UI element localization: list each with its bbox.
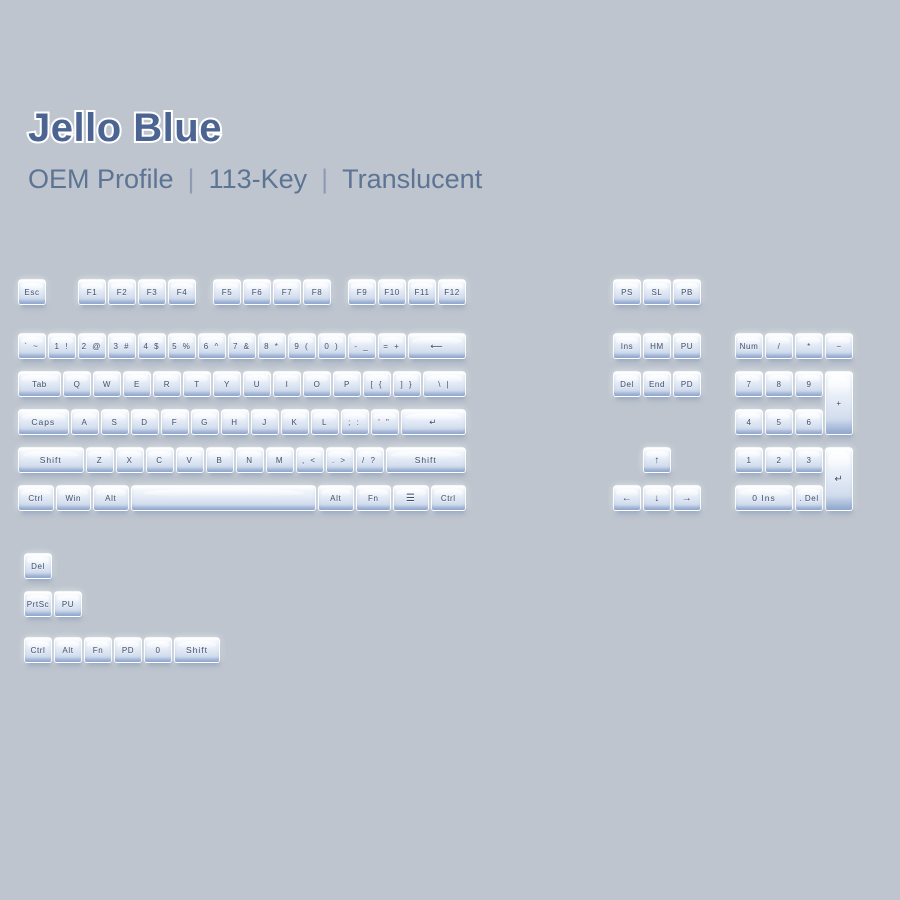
keycap-legend: = + (383, 342, 401, 351)
keycap-legend: A (82, 418, 88, 427)
keycap-legend: PrtSc (27, 600, 50, 609)
keycap-legend: Y (224, 380, 230, 389)
key-period[interactable]: . > (326, 447, 354, 473)
keycap-legend: Fn (93, 646, 104, 655)
keycap-legend: C (156, 456, 162, 465)
key-o[interactable]: O (303, 371, 331, 397)
key-f[interactable]: F (161, 409, 189, 435)
key-numpad-multiply[interactable]: * (795, 333, 823, 359)
keycap-legend: Ctrl (441, 494, 456, 503)
keycap-legend: Shift (415, 455, 437, 465)
keycap-legend: J (262, 418, 267, 427)
keycap-legend: F10 (384, 288, 400, 297)
key-t[interactable]: T (183, 371, 211, 397)
key-numpad-enter[interactable]: ↵ (825, 447, 853, 511)
keycap-legend: PU (681, 342, 693, 351)
keycap-legend: Alt (330, 494, 341, 503)
key-6[interactable]: 6 ^ (198, 333, 226, 359)
key-slash[interactable]: / ? (356, 447, 384, 473)
keycap-legend: Fn (368, 494, 379, 503)
key-extra-0[interactable]: 0 (144, 637, 172, 663)
key-l[interactable]: L (311, 409, 339, 435)
key-h[interactable]: H (221, 409, 249, 435)
keycap-legend: Alt (62, 646, 73, 655)
keycap-set-layout: EscF1F2F3F4F5F6F7F8F9F10F11F12` ~1 !2 @3… (0, 0, 900, 900)
keycap-legend: ↵ (835, 474, 844, 485)
key-extra-shift[interactable]: Shift (174, 637, 220, 663)
key-fn[interactable]: Fn (356, 485, 392, 511)
key-w[interactable]: W (93, 371, 121, 397)
keycap-legend: Ctrl (28, 494, 43, 503)
keycap-legend: HM (650, 342, 664, 351)
key-shift-right[interactable]: Shift (386, 447, 467, 473)
key-x[interactable]: X (116, 447, 144, 473)
keycap-legend: 4 $ (143, 342, 160, 351)
key-f3[interactable]: F3 (138, 279, 166, 305)
key-numpad-3[interactable]: 3 (795, 447, 823, 473)
key-s[interactable]: S (101, 409, 129, 435)
keycap-legend: ☰ (406, 493, 416, 504)
keycap-legend: PU (62, 600, 74, 609)
key-numpad-5[interactable]: 5 (765, 409, 793, 435)
key-insert[interactable]: Ins (613, 333, 641, 359)
key-c[interactable]: C (146, 447, 174, 473)
keycap-legend: 0 Ins (752, 493, 775, 503)
keycap-legend: Ins (621, 342, 633, 351)
key-backslash[interactable]: \ | (423, 371, 466, 397)
key-i[interactable]: I (273, 371, 301, 397)
key-e[interactable]: E (123, 371, 151, 397)
keycap-legend: ` ~ (24, 342, 40, 351)
keycap-legend: . > (332, 456, 347, 465)
key-grave[interactable]: ` ~ (18, 333, 46, 359)
key-equal[interactable]: = + (378, 333, 406, 359)
key-esc[interactable]: Esc (18, 279, 46, 305)
key-f6[interactable]: F6 (243, 279, 271, 305)
key-ctrl-right[interactable]: Ctrl (431, 485, 467, 511)
key-ctrl-left[interactable]: Ctrl (18, 485, 54, 511)
keycap-legend: 5 (776, 418, 781, 427)
keycap-legend: S (112, 418, 118, 427)
key-numpad-4[interactable]: 4 (735, 409, 763, 435)
key-extra-del[interactable]: Del (24, 553, 52, 579)
keycap-legend: 2 @ (82, 342, 103, 351)
keycap-legend: , < (302, 456, 317, 465)
key-arrow-down[interactable]: ↓ (643, 485, 671, 511)
key-extra-pd[interactable]: PD (114, 637, 142, 663)
keycap-legend: PD (681, 380, 693, 389)
keycap-legend: F1 (87, 288, 98, 297)
keycap-legend: SL (652, 288, 663, 297)
keycap-legend: F11 (415, 288, 430, 297)
keycap-legend: Z (97, 456, 103, 465)
keycap-legend: PS (621, 288, 633, 297)
keycap-legend: F2 (117, 288, 128, 297)
key-backspace[interactable]: ⟵ (408, 333, 466, 359)
key-m[interactable]: M (266, 447, 294, 473)
key-r[interactable]: R (153, 371, 181, 397)
keycap-legend: 2 (776, 456, 781, 465)
keycap-legend: P (344, 380, 350, 389)
key-numpad-8[interactable]: 8 (765, 371, 793, 397)
key-k[interactable]: K (281, 409, 309, 435)
key-arrow-up[interactable]: ↑ (643, 447, 671, 473)
key-arrow-left[interactable]: ← (613, 485, 641, 511)
keycap-legend: G (201, 418, 208, 427)
key-arrow-right[interactable]: → (673, 485, 701, 511)
key-3[interactable]: 3 # (108, 333, 136, 359)
keycap-legend: 9 (806, 380, 811, 389)
keycap-legend: PD (122, 646, 134, 655)
keycap-legend: 8 * (264, 342, 280, 351)
key-pause-break[interactable]: PB (673, 279, 701, 305)
key-end[interactable]: End (643, 371, 671, 397)
keycap-legend: End (649, 380, 665, 389)
key-win[interactable]: Win (56, 485, 92, 511)
keycap-legend: 0 (155, 646, 160, 655)
key-numpad-6[interactable]: 6 (795, 409, 823, 435)
keycap-legend: M (276, 456, 283, 465)
key-space[interactable] (131, 485, 317, 511)
keycap-legend: ↑ (654, 455, 660, 466)
key-2[interactable]: 2 @ (78, 333, 106, 359)
keycap-legend: Q (74, 380, 81, 389)
keycap-legend: 5 % (172, 342, 192, 351)
key-1[interactable]: 1 ! (48, 333, 76, 359)
key-z[interactable]: Z (86, 447, 114, 473)
key-extra-prtsc[interactable]: PrtSc (24, 591, 52, 617)
keycap-legend: Ctrl (31, 646, 46, 655)
key-b[interactable]: B (206, 447, 234, 473)
keycap-legend: ↓ (654, 493, 660, 504)
keycap-legend: ← (622, 493, 633, 504)
key-semicolon[interactable]: ; : (341, 409, 369, 435)
keycap-legend: - _ (354, 342, 369, 351)
keycap-legend: 8 (776, 380, 781, 389)
keycap-legend: 6 ^ (204, 342, 220, 351)
key-numpad-1[interactable]: 1 (735, 447, 763, 473)
key-numpad-divide[interactable]: / (765, 333, 793, 359)
keycap-legend: F12 (444, 288, 460, 297)
keycap-legend: 0 ) (324, 342, 339, 351)
key-0[interactable]: 0 ) (318, 333, 346, 359)
keycap-legend: F3 (147, 288, 158, 297)
keycap-legend: I (286, 380, 289, 389)
key-7[interactable]: 7 & (228, 333, 256, 359)
key-numpad-9[interactable]: 9 (795, 371, 823, 397)
keycap-legend: Shift (186, 645, 208, 655)
key-alt-right[interactable]: Alt (318, 485, 354, 511)
key-extra-ctrl[interactable]: Ctrl (24, 637, 52, 663)
key-p[interactable]: P (333, 371, 361, 397)
keycap-legend: F6 (252, 288, 263, 297)
keycap-legend: / ? (362, 456, 377, 465)
key-numpad-decimal[interactable]: . Del (795, 485, 823, 511)
key-page-up[interactable]: PU (673, 333, 701, 359)
keycap-legend: 9 ( (294, 342, 309, 351)
keycap-legend: Num (740, 342, 759, 351)
keycap-legend: F (172, 418, 178, 427)
keycap-legend: 1 (746, 456, 751, 465)
key-delete[interactable]: Del (613, 371, 641, 397)
keycap-legend: N (246, 456, 252, 465)
keycap-legend: X (127, 456, 133, 465)
keycap-legend: 7 (746, 380, 751, 389)
key-minus[interactable]: - _ (348, 333, 376, 359)
key-f1[interactable]: F1 (78, 279, 106, 305)
keycap-legend: Caps (31, 417, 55, 427)
keycap-legend: O (314, 380, 321, 389)
key-quote[interactable]: ' " (371, 409, 399, 435)
keycap-legend: F9 (357, 288, 368, 297)
keycap-legend: Esc (24, 288, 39, 297)
key-f7[interactable]: F7 (273, 279, 301, 305)
key-8[interactable]: 8 * (258, 333, 286, 359)
key-f11[interactable]: F11 (408, 279, 436, 305)
keycap-legend: B (217, 456, 223, 465)
keycap-legend: PB (681, 288, 693, 297)
key-enter[interactable]: ↵ (401, 409, 467, 435)
keycap-legend: K (292, 418, 298, 427)
key-num-lock[interactable]: Num (735, 333, 763, 359)
keycap-legend: D (141, 418, 147, 427)
key-tab[interactable]: Tab (18, 371, 61, 397)
key-extra-fn[interactable]: Fn (84, 637, 112, 663)
keycap-legend: Shift (40, 455, 62, 465)
keycap-legend: − (836, 342, 841, 351)
key-j[interactable]: J (251, 409, 279, 435)
key-y[interactable]: Y (213, 371, 241, 397)
keycap-legend: R (164, 380, 170, 389)
key-page-down[interactable]: PD (673, 371, 701, 397)
keycap-legend: → (682, 493, 693, 504)
keycap-legend: Del (620, 380, 634, 389)
keycap-legend: 6 (806, 418, 811, 427)
keycap-legend: L (322, 418, 327, 427)
keycap-legend: 4 (746, 418, 751, 427)
key-f9[interactable]: F9 (348, 279, 376, 305)
key-alt-left[interactable]: Alt (93, 485, 129, 511)
key-caps-lock[interactable]: Caps (18, 409, 69, 435)
key-bracket-right[interactable]: ] } (393, 371, 421, 397)
keycap-legend: F5 (222, 288, 233, 297)
keycap-legend: F4 (177, 288, 188, 297)
keycap-legend: U (254, 380, 260, 389)
key-v[interactable]: V (176, 447, 204, 473)
keycap-legend: ; : (348, 418, 361, 427)
key-comma[interactable]: , < (296, 447, 324, 473)
key-9[interactable]: 9 ( (288, 333, 316, 359)
keycap-legend: + (836, 399, 841, 408)
keycap-legend: V (187, 456, 193, 465)
key-numpad-2[interactable]: 2 (765, 447, 793, 473)
key-f5[interactable]: F5 (213, 279, 241, 305)
keycap-legend: . Del (799, 494, 818, 503)
keycap-legend: 1 ! (55, 342, 70, 351)
keycap-legend: F8 (312, 288, 323, 297)
key-bracket-left[interactable]: [ { (363, 371, 391, 397)
key-print-screen[interactable]: PS (613, 279, 641, 305)
key-f10[interactable]: F10 (378, 279, 406, 305)
keycap-legend: Alt (105, 494, 116, 503)
keycap-legend: H (231, 418, 237, 427)
keycap-legend: ] } (400, 380, 413, 389)
key-home[interactable]: HM (643, 333, 671, 359)
keycap-legend: E (134, 380, 140, 389)
keycap-legend: 3 # (113, 342, 130, 351)
key-u[interactable]: U (243, 371, 271, 397)
key-numpad-0[interactable]: 0 Ins (735, 485, 793, 511)
key-d[interactable]: D (131, 409, 159, 435)
key-a[interactable]: A (71, 409, 99, 435)
key-numpad-7[interactable]: 7 (735, 371, 763, 397)
key-q[interactable]: Q (63, 371, 91, 397)
keycap-legend: Win (65, 494, 81, 503)
key-f2[interactable]: F2 (108, 279, 136, 305)
key-g[interactable]: G (191, 409, 219, 435)
key-4[interactable]: 4 $ (138, 333, 166, 359)
key-numpad-minus[interactable]: − (825, 333, 853, 359)
key-extra-alt[interactable]: Alt (54, 637, 82, 663)
keycap-legend: ↵ (429, 417, 437, 428)
keycap-legend: Del (31, 562, 45, 571)
keycap-legend: [ { (370, 380, 383, 389)
key-5[interactable]: 5 % (168, 333, 196, 359)
key-n[interactable]: N (236, 447, 264, 473)
key-f12[interactable]: F12 (438, 279, 466, 305)
keycap-legend: ' " (378, 418, 391, 427)
key-numpad-plus[interactable]: + (825, 371, 853, 435)
keycap-legend: F7 (282, 288, 293, 297)
keycap-legend: Tab (32, 380, 47, 389)
keycap-legend: 7 & (233, 342, 251, 351)
key-scroll-lock[interactable]: SL (643, 279, 671, 305)
key-shift-left[interactable]: Shift (18, 447, 84, 473)
key-extra-pu[interactable]: PU (54, 591, 82, 617)
keycap-legend: * (807, 342, 811, 351)
keycap-legend: T (194, 380, 200, 389)
key-f8[interactable]: F8 (303, 279, 331, 305)
keycap-legend: / (778, 342, 781, 351)
keycap-legend: ⟵ (430, 341, 443, 352)
keycap-legend: W (103, 380, 111, 389)
keycap-legend: 3 (806, 456, 811, 465)
key-f4[interactable]: F4 (168, 279, 196, 305)
keycap-legend: \ | (438, 380, 451, 389)
key-menu[interactable]: ☰ (393, 485, 429, 511)
